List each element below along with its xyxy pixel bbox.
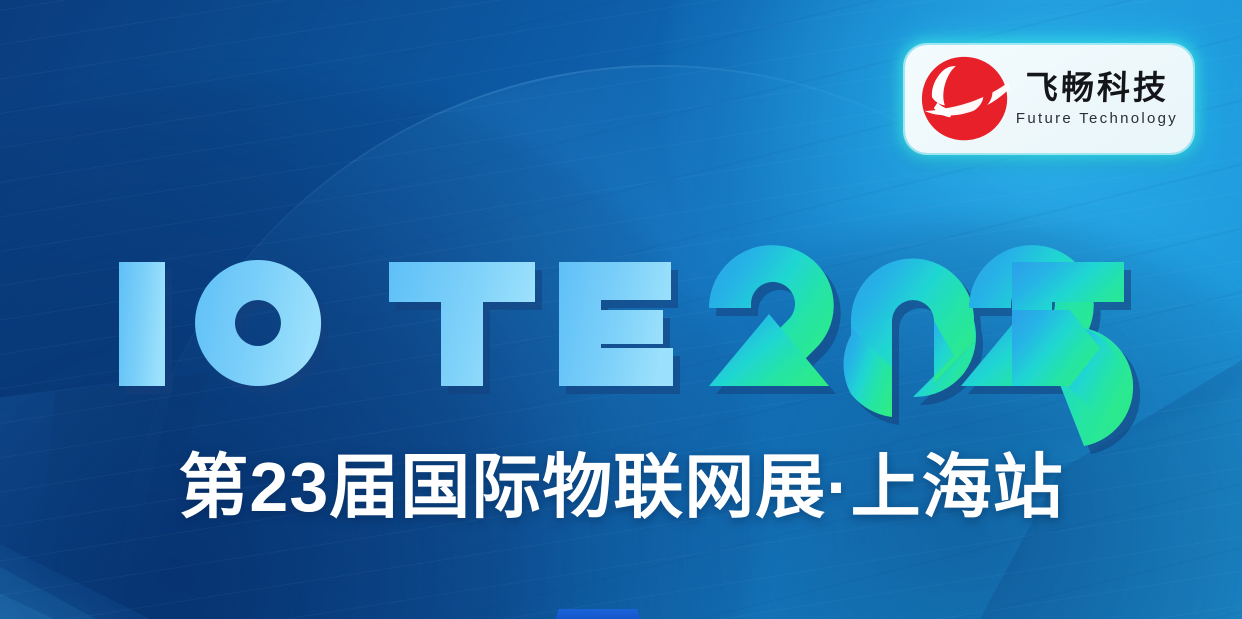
company-name-cn: 飞畅科技	[1024, 71, 1169, 106]
company-logo-badge[interactable]: 飞畅科技 Future Technology	[905, 45, 1193, 153]
company-name-en: Future Technology	[1016, 110, 1178, 127]
wordmark-iote	[119, 260, 673, 386]
iote-2025-banner: 飞畅科技 Future Technology	[0, 0, 1242, 619]
fc-emblem-icon	[919, 55, 1011, 143]
bottom-center-tab	[556, 609, 640, 619]
event-subtitle: 第23届国际物联网展·上海站	[0, 452, 1242, 522]
logo-text-block: 飞畅科技 Future Technology	[1011, 71, 1181, 128]
iote-2025-wordmark	[112, 252, 1092, 398]
